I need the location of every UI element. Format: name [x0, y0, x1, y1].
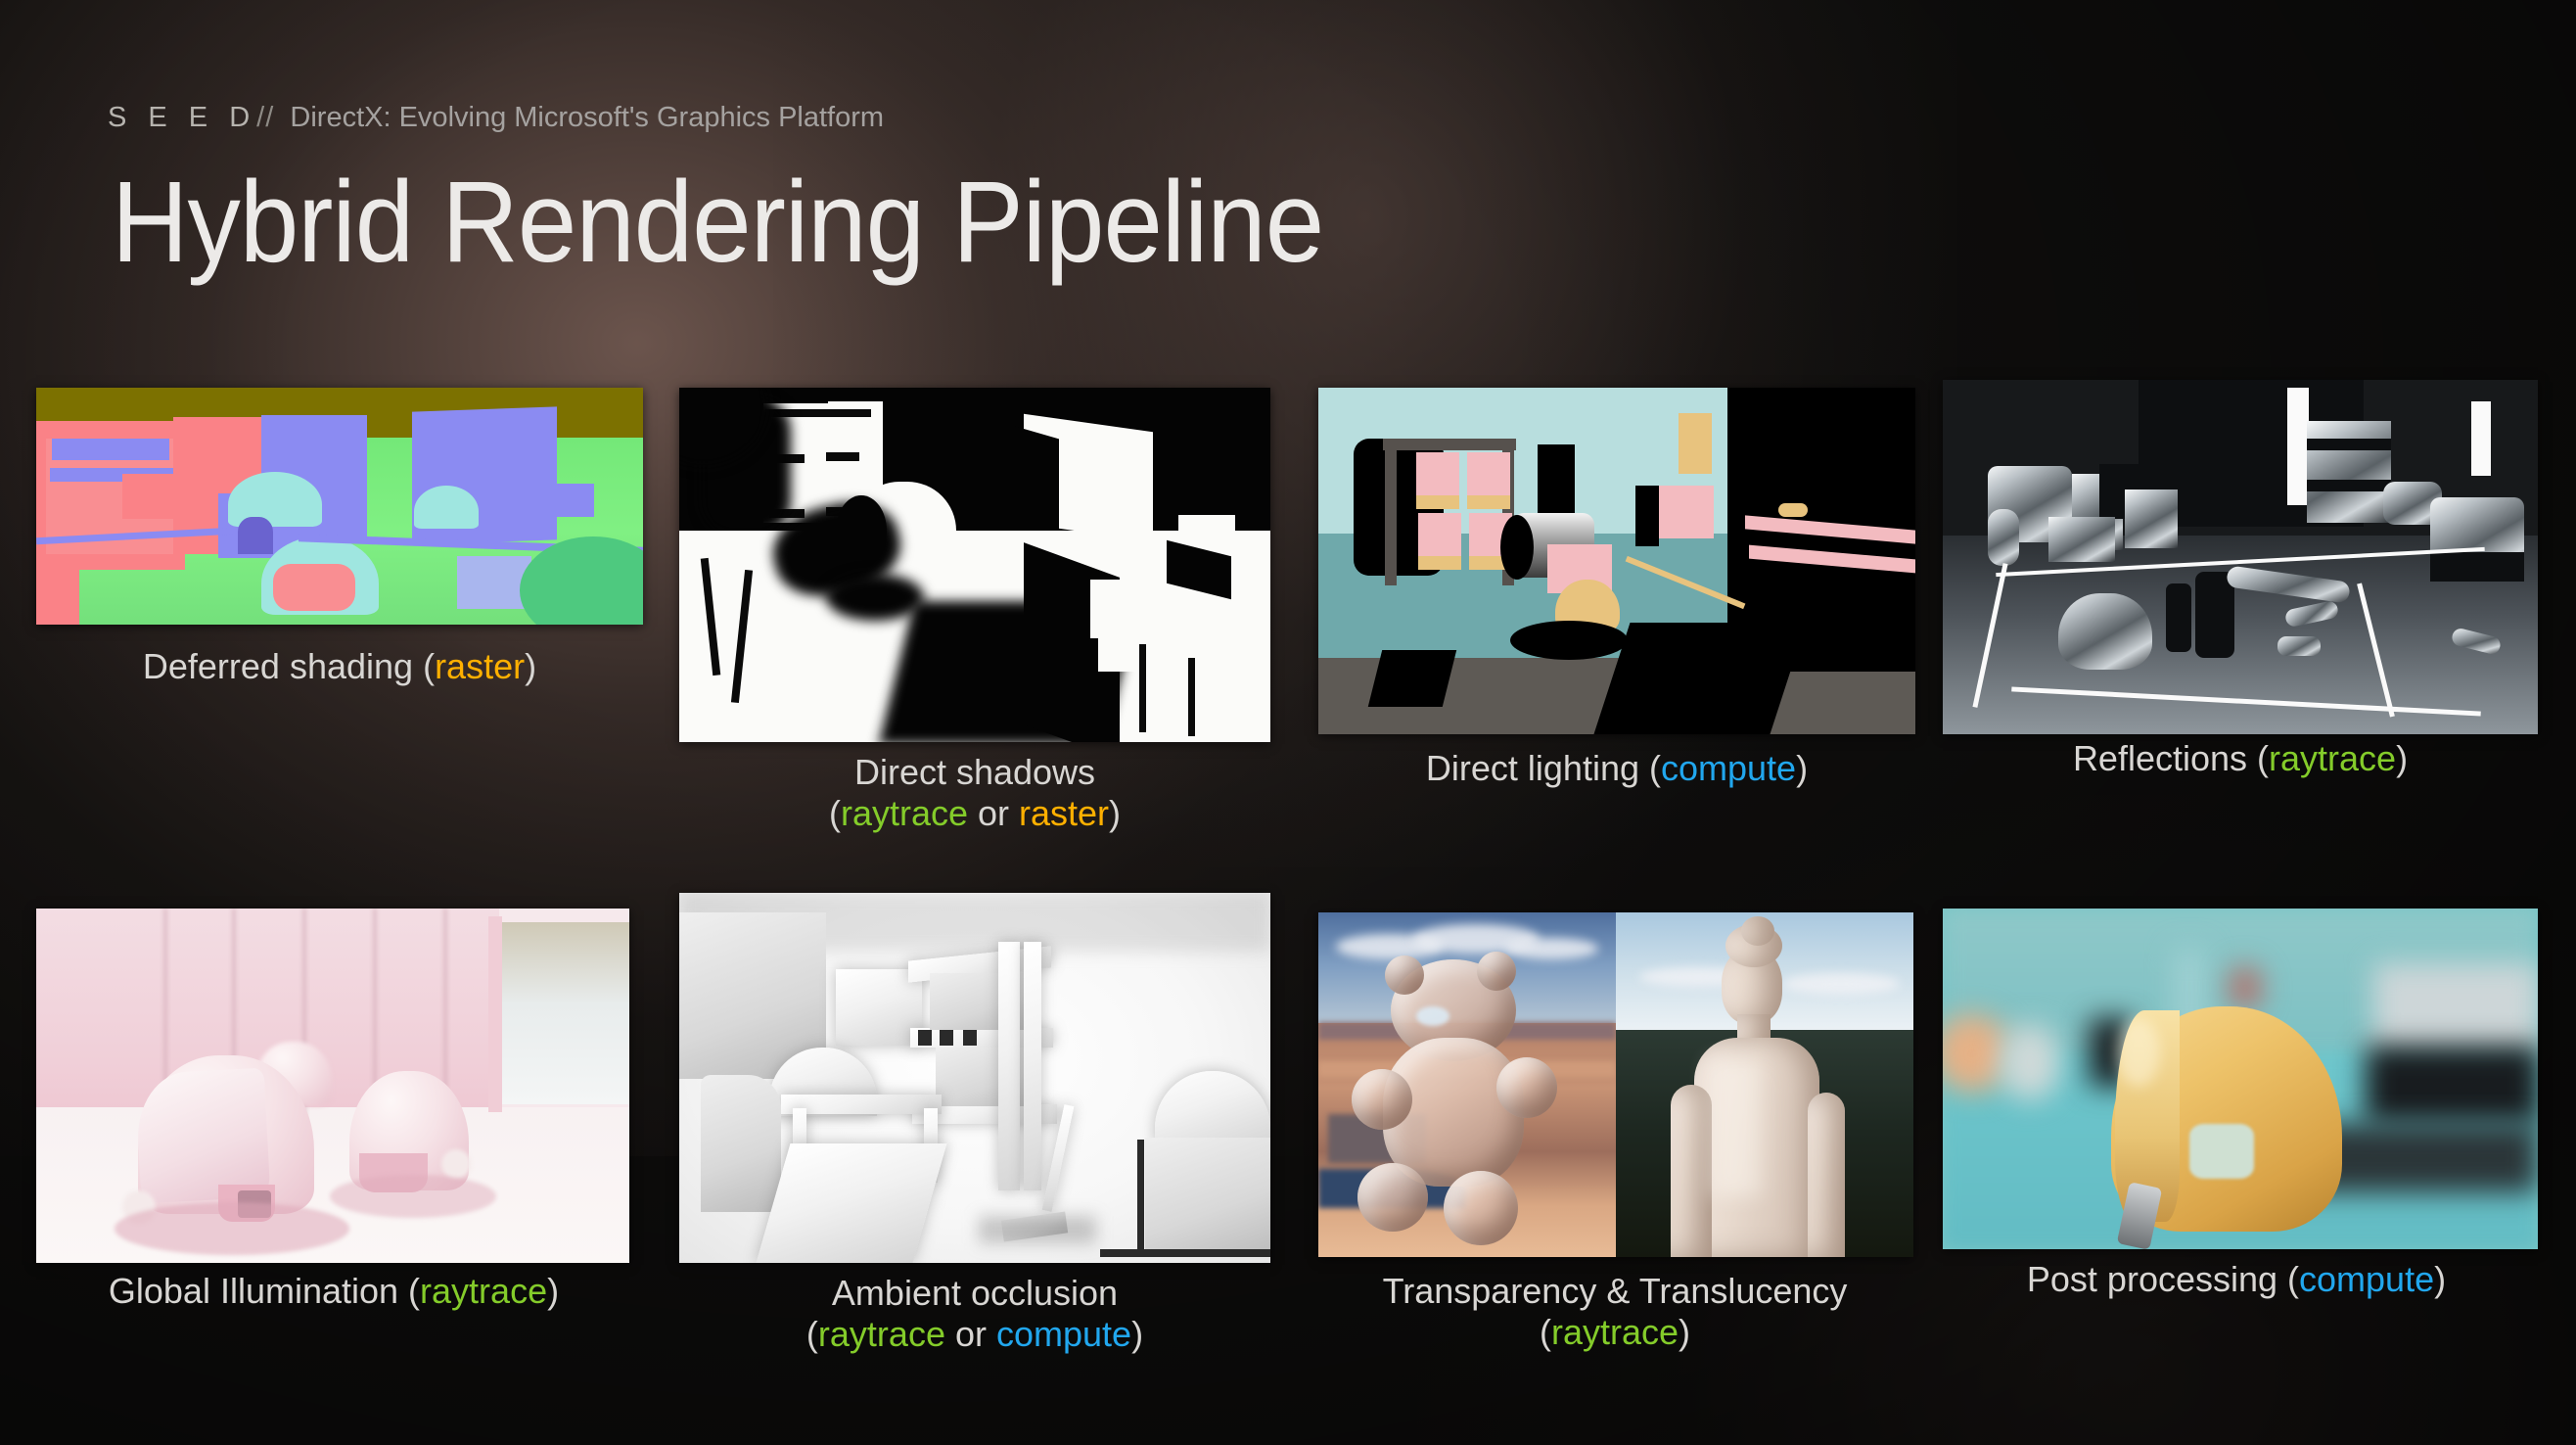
background-rack	[2373, 963, 2538, 1055]
pallet	[1467, 495, 1510, 509]
stage-caption-deferred-shading: Deferred shading (raster)	[36, 646, 643, 687]
stage-thumbnail-ambient-occlusion	[679, 893, 1270, 1263]
pallet-load	[1416, 452, 1459, 495]
ao-column	[998, 942, 1020, 1190]
light-strip	[2287, 388, 2309, 505]
normal-surface	[36, 570, 79, 625]
chrome-block	[2125, 489, 2178, 548]
gummy-bear-leg	[1357, 1163, 1428, 1232]
stage-card-reflections[interactable]: Reflections (raytrace)	[1943, 380, 2538, 752]
slide-root: S E E D// DirectX: Evolving Microsoft's …	[0, 0, 2576, 1445]
caption-text: or	[968, 793, 1019, 833]
poster	[1679, 413, 1712, 474]
robot-specular	[2117, 1018, 2160, 1087]
doorway-frame	[488, 916, 502, 1112]
pass-tag-raytrace: raytrace	[841, 793, 968, 833]
transparency-panel	[1318, 912, 1616, 1257]
gummy-bear-arm	[1352, 1069, 1412, 1130]
caption-text: Global Illumination (	[109, 1271, 420, 1311]
pass-tag-raytrace: raytrace	[1551, 1312, 1679, 1352]
ao-floor-line	[1100, 1249, 1270, 1257]
caption-text: )	[1109, 793, 1121, 833]
caption-text: Direct shadows	[854, 752, 1095, 792]
background-object	[2229, 965, 2262, 1010]
hard-shadow	[1635, 486, 1659, 546]
shadow-edge	[826, 452, 859, 461]
normal-surface	[273, 564, 355, 611]
pipeline-grid: Deferred shading (raster)	[0, 0, 2576, 1445]
chrome-cylinder	[1988, 509, 2019, 566]
light-strip	[2471, 401, 2491, 476]
normal-surface	[510, 484, 594, 517]
caption-text: )	[2396, 738, 2408, 778]
stage-caption-ambient-occlusion: Ambient occlusion (raytrace or compute)	[679, 1273, 1270, 1355]
cloud	[1504, 938, 1598, 959]
ao-cabinet-right	[1145, 1138, 1270, 1255]
chrome-robot	[2058, 593, 2152, 670]
stage-thumbnail-transparency-translucency	[1318, 912, 1913, 1257]
stage-card-transparency-translucency[interactable]: Transparency & Translucency (raytrace)	[1318, 912, 1913, 1333]
stage-thumbnail-direct-lighting	[1318, 388, 1915, 734]
shadow-edge	[1188, 658, 1195, 736]
stage-thumbnail-post-processing	[1943, 909, 2538, 1249]
stage-card-direct-lighting[interactable]: Direct lighting (compute)	[1318, 388, 1915, 760]
stage-caption-reflections: Reflections (raytrace)	[1937, 738, 2544, 779]
caption-text: )	[547, 1271, 559, 1311]
gi-robot-cloth	[135, 1068, 271, 1204]
contact-shadow	[1510, 621, 1628, 660]
ao-dark-gap	[1137, 1140, 1144, 1257]
pallet-item	[1778, 503, 1808, 517]
pass-tag-raster: raster	[435, 646, 525, 686]
stage-card-deferred-shading[interactable]: Deferred shading (raster)	[36, 388, 643, 760]
specular-highlight	[1416, 1006, 1449, 1026]
color-bleed	[115, 1202, 349, 1255]
hard-shadow	[1593, 623, 1806, 734]
caption-text: Reflections (	[2073, 738, 2269, 778]
normal-surface	[238, 517, 273, 554]
rack-shelf	[2307, 439, 2391, 450]
stage-card-direct-shadows[interactable]: Direct shadows (raytrace or raster)	[679, 388, 1270, 799]
caption-text: )	[525, 646, 536, 686]
caption-text: Ambient occlusion	[832, 1273, 1118, 1313]
ao-crate	[936, 1048, 1037, 1106]
pallet-load	[1418, 513, 1461, 556]
pallet	[1416, 495, 1459, 509]
caption-text: (	[806, 1314, 818, 1354]
ao-slot	[918, 1030, 932, 1046]
rack-shelf	[2307, 480, 2391, 491]
color-bleed	[330, 1175, 496, 1218]
stage-caption-direct-lighting: Direct lighting (compute)	[1318, 748, 1915, 789]
stage-thumbnail-direct-shadows	[679, 388, 1270, 742]
cloud	[1782, 973, 1900, 995]
ao-slot	[940, 1030, 953, 1046]
gi-doorway	[496, 922, 629, 1104]
rack-frame	[1385, 439, 1397, 585]
chrome-rack	[2307, 421, 2391, 523]
stage-card-ambient-occlusion[interactable]: Ambient occlusion (raytrace or compute)	[679, 893, 1270, 1314]
dark-band	[2430, 552, 2524, 582]
stage-card-global-illumination[interactable]: Global Illumination (raytrace)	[36, 909, 629, 1281]
shadow-edge	[1139, 644, 1146, 732]
wax-figure-bun	[1741, 916, 1774, 946]
stage-thumbnail-deferred-shading	[36, 388, 643, 625]
stage-caption-global-illumination: Global Illumination (raytrace)	[21, 1271, 647, 1312]
pass-tag-compute: compute	[2299, 1259, 2434, 1299]
normal-robot	[414, 486, 479, 529]
pass-tag-raytrace: raytrace	[2269, 738, 2396, 778]
stage-thumbnail-global-illumination	[36, 909, 629, 1263]
caption-text: )	[1131, 1314, 1143, 1354]
caption-text: Post processing (	[2027, 1259, 2299, 1299]
subsurface-glow	[1710, 1059, 1761, 1196]
caption-text: (	[829, 793, 841, 833]
background-rack-dark	[2366, 1046, 2538, 1124]
ao-column	[1024, 942, 1041, 1190]
stage-card-post-processing[interactable]: Post processing (compute)	[1943, 909, 2538, 1300]
robot-eye	[2189, 1124, 2254, 1179]
hard-shadow	[1368, 650, 1456, 707]
chrome-bolt	[2277, 636, 2321, 656]
stage-caption-direct-shadows: Direct shadows (raytrace or raster)	[679, 752, 1270, 834]
stage-thumbnail-reflections	[1943, 380, 2538, 734]
pass-tag-raster: raster	[1019, 793, 1109, 833]
wheel	[441, 1149, 471, 1179]
ao-slot	[963, 1030, 977, 1046]
caption-text: )	[2434, 1259, 2446, 1299]
gummy-bear-ear	[1477, 952, 1516, 991]
caption-text: Direct lighting (	[1426, 748, 1661, 788]
cast-shadow	[826, 574, 924, 621]
caption-text: or	[945, 1314, 996, 1354]
pallet-load	[1467, 452, 1510, 495]
stage-caption-transparency-translucency: Transparency & Translucency (raytrace)	[1277, 1271, 1953, 1353]
ao-contact-shadow	[979, 1216, 1096, 1243]
pass-tag-raytrace: raytrace	[818, 1314, 945, 1354]
ao-machine	[701, 1075, 781, 1212]
bokeh-highlight	[2000, 1024, 2060, 1100]
gummy-bear-ear	[1385, 956, 1424, 995]
caption-text: Deferred shading (	[143, 646, 435, 686]
chrome-cylinder-dark	[2166, 583, 2191, 652]
wax-figure-arm	[1671, 1085, 1712, 1257]
hard-shadow	[1500, 515, 1534, 580]
chrome-block	[2048, 517, 2115, 562]
normal-surface	[52, 439, 169, 460]
gummy-bear-arm	[1496, 1057, 1557, 1118]
translucency-panel	[1616, 912, 1913, 1257]
gummy-bear-leg	[1444, 1171, 1518, 1245]
pallet	[1418, 556, 1461, 570]
caption-text: )	[1796, 748, 1808, 788]
pass-tag-raytrace: raytrace	[420, 1271, 547, 1311]
chrome-cylinder-dark	[2195, 572, 2234, 658]
caption-text: (	[1540, 1312, 1551, 1352]
pass-tag-compute: compute	[996, 1314, 1131, 1354]
rack-frame	[1383, 439, 1516, 450]
stage-caption-post-processing: Post processing (compute)	[1923, 1259, 2550, 1300]
caption-text: )	[1679, 1312, 1690, 1352]
wax-figure-arm	[1808, 1093, 1845, 1257]
pass-tag-compute: compute	[1661, 748, 1796, 788]
caption-text: Transparency & Translucency	[1383, 1271, 1848, 1311]
